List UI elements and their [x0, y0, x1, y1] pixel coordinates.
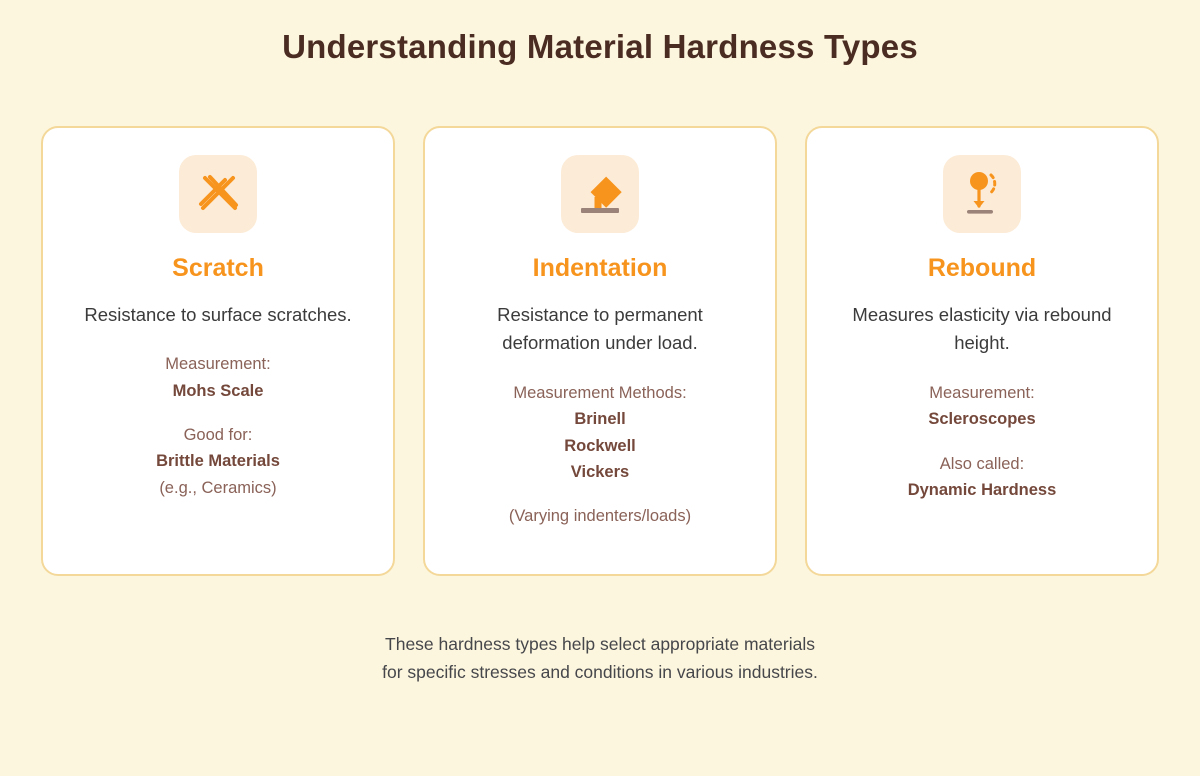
- footer-line-2: for specific stresses and conditions in …: [0, 658, 1200, 686]
- card-indentation[interactable]: Indentation Resistance to permanent defo…: [423, 126, 777, 576]
- rebound-ball-icon: [943, 155, 1021, 233]
- scratch-lines-icon: [179, 155, 257, 233]
- meta-value: Scleroscopes: [928, 406, 1035, 432]
- card-title: Rebound: [928, 255, 1036, 283]
- hardness-type-cards: Scratch Resistance to surface scratches.…: [41, 126, 1159, 576]
- footer-line-1: These hardness types help select appropr…: [0, 630, 1200, 658]
- page-title: Understanding Material Hardness Types: [0, 28, 1200, 66]
- meta-also-called: Also called: Dynamic Hardness: [908, 451, 1057, 504]
- meta-label: Also called:: [908, 451, 1057, 477]
- card-description: Measures elasticity via rebound height.: [832, 301, 1132, 358]
- card-description: Resistance to permanent deformation unde…: [450, 301, 750, 358]
- meta-measurement: Measurement: Mohs Scale: [165, 351, 270, 404]
- meta-label: Good for:: [156, 422, 280, 448]
- meta-note: (e.g., Ceramics): [156, 475, 280, 501]
- meta-label: Measurement Methods:: [513, 380, 686, 406]
- indenter-diamond-icon: [561, 155, 639, 233]
- meta-measurement: Measurement: Scleroscopes: [928, 380, 1035, 433]
- meta-label: Measurement:: [928, 380, 1035, 406]
- meta-value: Brinell: [513, 406, 686, 432]
- card-description: Resistance to surface scratches.: [84, 301, 351, 330]
- meta-good-for: Good for: Brittle Materials (e.g., Ceram…: [156, 422, 280, 501]
- meta-value: Vickers: [513, 459, 686, 485]
- meta-note-wrap: (Varying indenters/loads): [509, 503, 691, 529]
- meta-value: Rockwell: [513, 433, 686, 459]
- card-title: Indentation: [533, 255, 668, 283]
- infographic-page: Understanding Material Hardness Types Sc…: [0, 0, 1200, 776]
- meta-label: Measurement:: [165, 351, 270, 377]
- meta-value: Dynamic Hardness: [908, 477, 1057, 503]
- meta-note: (Varying indenters/loads): [509, 503, 691, 529]
- meta-measurement-methods: Measurement Methods: Brinell Rockwell Vi…: [513, 380, 686, 486]
- meta-value: Brittle Materials: [156, 448, 280, 474]
- card-rebound[interactable]: Rebound Measures elasticity via rebound …: [805, 126, 1159, 576]
- footer-note: These hardness types help select appropr…: [0, 630, 1200, 687]
- card-title: Scratch: [172, 255, 264, 283]
- card-scratch[interactable]: Scratch Resistance to surface scratches.…: [41, 126, 395, 576]
- meta-value: Mohs Scale: [165, 378, 270, 404]
